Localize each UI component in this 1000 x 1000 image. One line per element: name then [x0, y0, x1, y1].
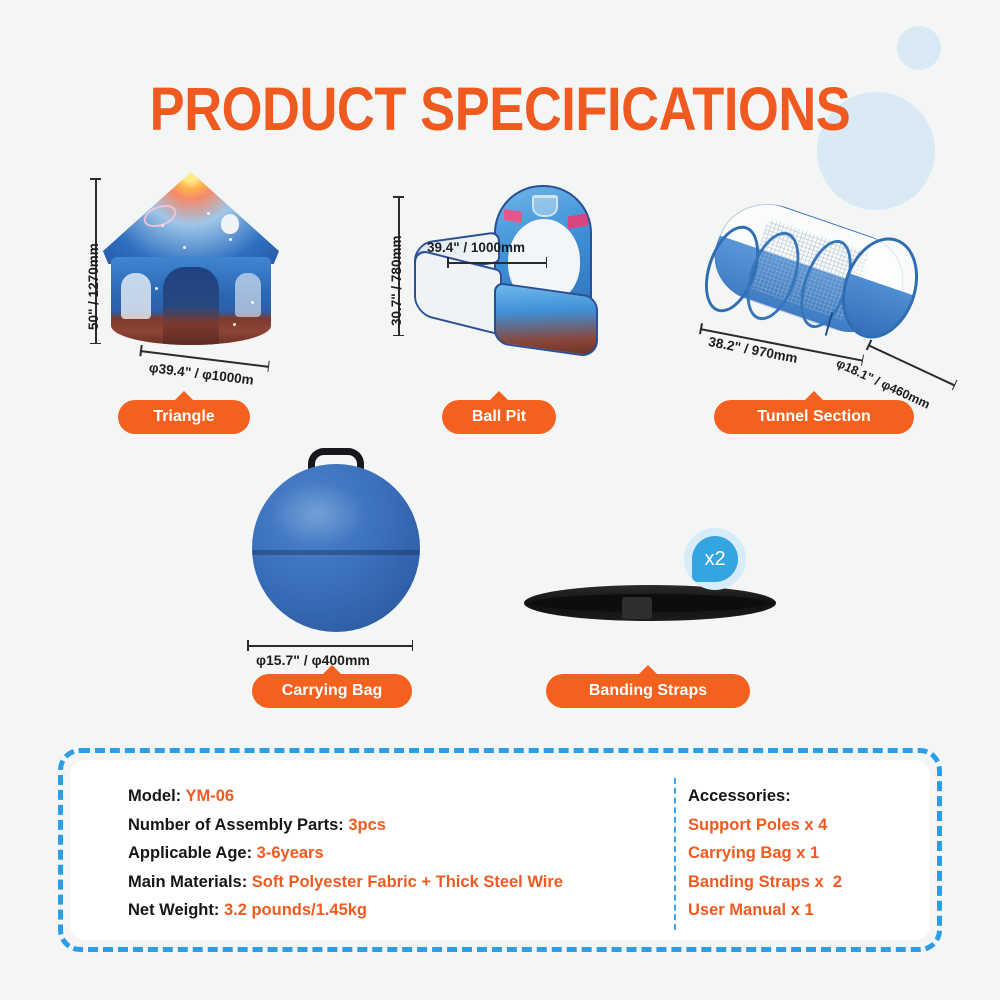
badge-tunnel-section-label: Tunnel Section [757, 408, 870, 426]
spec-label: Applicable Age: [128, 844, 252, 862]
tent-body [111, 257, 271, 345]
accessory-item: Support Poles x 4 [688, 811, 930, 840]
tent-astronaut-graphic [221, 214, 239, 234]
ball-pit-width-dimension-line [447, 262, 547, 264]
tent-window-right [235, 273, 261, 317]
spec-label: Net Weight: [128, 901, 219, 919]
spec-value: Soft Polyester Fabric + Thick Steel Wire [252, 873, 563, 891]
specifications-panel: Model: YM-06 Number of Assembly Parts: 3… [58, 748, 942, 952]
spec-value: 3-6years [257, 844, 324, 862]
ball-pit-flag-right [568, 213, 588, 229]
ball-pit-width-dimension-label: 39.4" / 1000mm [427, 240, 525, 255]
ball-pit-height-dimension-label: 30.7" / 780mm [389, 236, 404, 326]
badge-triangle[interactable]: Triangle [118, 400, 250, 434]
badge-banding-straps-label: Banding Straps [589, 682, 707, 700]
specifications-list: Model: YM-06 Number of Assembly Parts: 3… [70, 760, 628, 940]
tent-planet-graphic [141, 201, 180, 231]
tent-window-left [121, 273, 151, 319]
tunnel-illustration [700, 208, 932, 348]
badge-banding-straps[interactable]: Banding Straps [546, 674, 750, 708]
carrying-bag-width-dimension-label: φ15.7" / φ400mm [256, 652, 370, 668]
spec-row: Net Weight: 3.2 pounds/1.45kg [128, 896, 628, 925]
banding-straps-illustration [524, 585, 776, 629]
banding-strap-overlap [622, 597, 652, 619]
tent-height-dimension-label: 50" / 1270mm [86, 243, 101, 330]
accessories-list: Accessories: Support Poles x 4 Carrying … [654, 760, 930, 940]
badge-carrying-bag-label: Carrying Bag [282, 682, 382, 700]
basketball-hoop-icon [532, 195, 558, 217]
spec-label: Main Materials: [128, 873, 247, 891]
page-title: PRODUCT SPECIFICATIONS [70, 78, 930, 140]
badge-notch-icon [638, 665, 658, 675]
accessory-item: Banding Straps x 2 [688, 868, 930, 897]
badge-notch-icon [804, 391, 824, 401]
tent-roof [103, 172, 279, 264]
badge-ball-pit[interactable]: Ball Pit [442, 400, 556, 434]
badge-triangle-label: Triangle [153, 408, 214, 426]
column-divider [674, 778, 676, 930]
badge-notch-icon [489, 391, 509, 401]
carrying-bag-illustration [252, 448, 420, 633]
badge-notch-icon [322, 665, 342, 675]
spec-value: 3pcs [348, 816, 386, 834]
carrying-bag-body [252, 464, 420, 632]
spec-row: Main Materials: Soft Polyester Fabric + … [128, 868, 628, 897]
tent-door [163, 267, 219, 345]
spec-row: Model: YM-06 [128, 782, 628, 811]
badge-ball-pit-label: Ball Pit [472, 408, 526, 426]
spec-value: 3.2 pounds/1.45kg [224, 901, 367, 919]
accessory-item: User Manual x 1 [688, 896, 930, 925]
carrying-bag-highlight [270, 482, 366, 546]
accessory-item: Carrying Bag x 1 [688, 839, 930, 868]
ball-pit-front-wall [494, 282, 598, 359]
spec-row: Applicable Age: 3-6years [128, 839, 628, 868]
specifications-card: Model: YM-06 Number of Assembly Parts: 3… [70, 760, 930, 940]
ball-pit-illustration [410, 185, 600, 355]
quantity-bubble-icon: x2 [692, 536, 738, 582]
spec-row: Number of Assembly Parts: 3pcs [128, 811, 628, 840]
decorative-circle-small [897, 26, 941, 70]
spec-value: YM-06 [185, 787, 234, 805]
quantity-badge-label: x2 [704, 548, 725, 571]
badge-carrying-bag[interactable]: Carrying Bag [252, 674, 412, 708]
badge-tunnel-section[interactable]: Tunnel Section [714, 400, 914, 434]
spec-label: Number of Assembly Parts: [128, 816, 344, 834]
ball-pit-flag-left [504, 209, 522, 223]
tent-illustration [103, 172, 279, 352]
tent-width-dimension-label: φ39.4" / φ1000m [148, 360, 254, 388]
accessories-heading: Accessories: [688, 782, 930, 811]
spec-label: Model: [128, 787, 181, 805]
quantity-badge-x2: x2 [684, 528, 746, 590]
carrying-bag-width-dimension-line [247, 645, 413, 647]
badge-notch-icon [174, 391, 194, 401]
carrying-bag-seam [252, 550, 420, 555]
